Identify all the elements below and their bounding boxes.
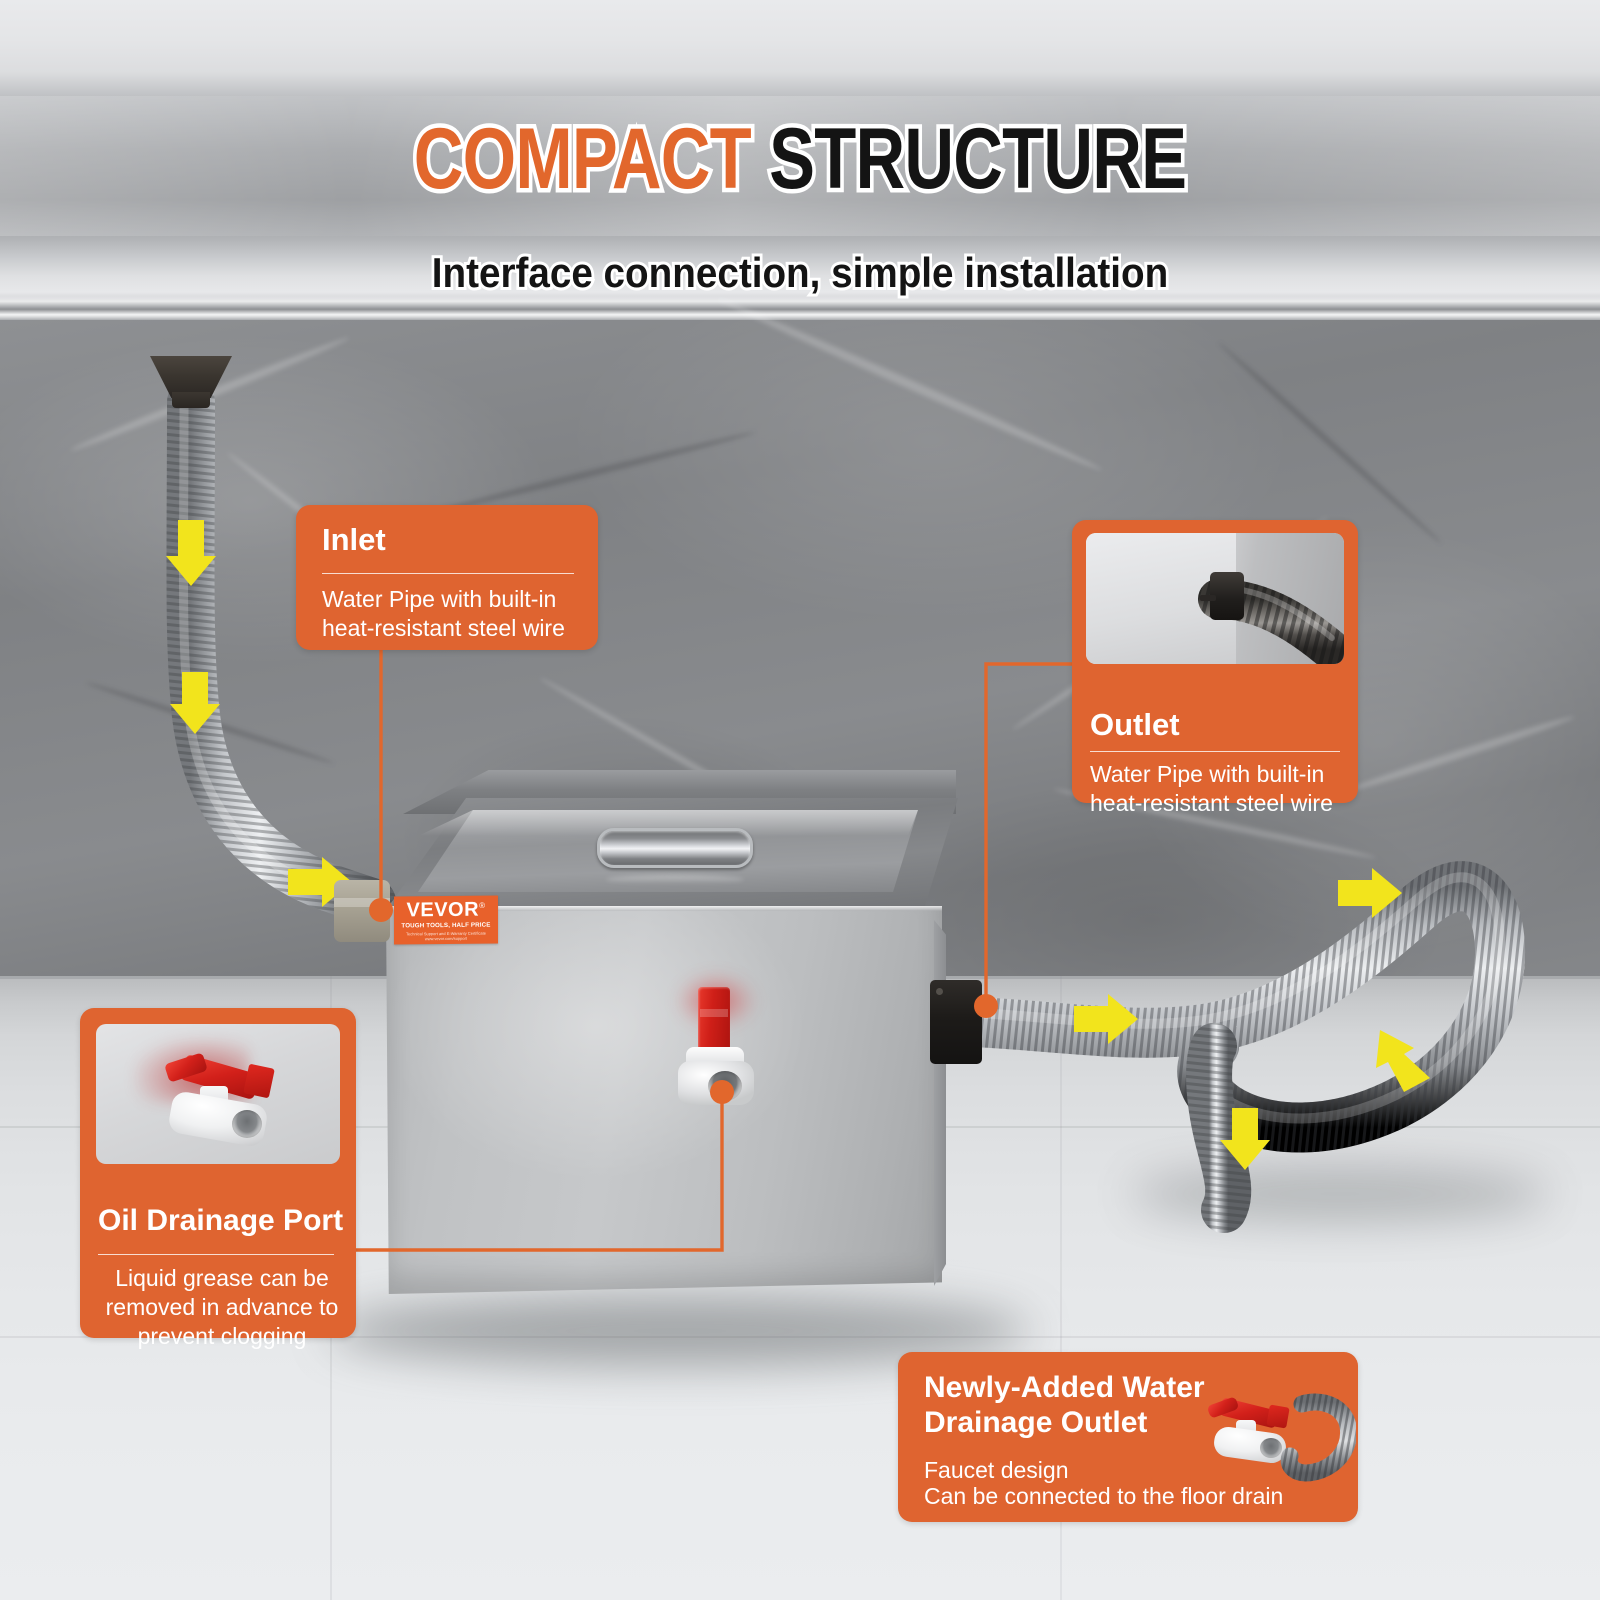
product-infographic-canvas: VEVOR® TOUGH TOOLS, HALF PRICE Technical…: [0, 0, 1600, 1600]
vevor-wordmark: VEVOR®: [394, 898, 498, 922]
callout-outlet-divider: [1090, 751, 1340, 752]
title-word-structure: STRUCTURE: [769, 111, 1186, 207]
callout-bottom-title: Newly-Added Water Drainage Outlet: [924, 1370, 1224, 1441]
title-word-compact: COMPACT: [414, 111, 751, 207]
photo-hose-tab: [1200, 595, 1216, 601]
sink-drain-neck: [172, 392, 210, 408]
tank-right-panel: [934, 920, 946, 1286]
callout-outlet-body: Water Pipe with built-in heat-resistant …: [1090, 760, 1348, 818]
outlet-inset-photo: [1086, 533, 1344, 664]
outlet-hose-fitting: [930, 980, 982, 1064]
ball-valve-illustration: [96, 1024, 340, 1164]
oil-drain-valve-on-tank: [668, 975, 786, 1105]
bottom-bar-product-art: [1198, 1372, 1356, 1512]
callout-outlet[interactable]: Outlet Water Pipe with built-in heat-res…: [1072, 520, 1358, 803]
bottom-coiled-hose-illustration: [1198, 1372, 1356, 1512]
vevor-brand-label: VEVOR® TOUGH TOOLS, HALF PRICE Technical…: [394, 895, 498, 944]
callout-inlet-body: Water Pipe with built-in heat-resistant …: [322, 585, 590, 643]
valve-red-handle: [698, 987, 730, 1053]
callout-oil-drainage-port[interactable]: Oil Drainage Port Liquid grease can be r…: [80, 1008, 356, 1338]
vevor-fineprint: Technical Support and E-Warranty Certifi…: [394, 930, 498, 941]
valve-outlet-mouth: [708, 1071, 742, 1101]
callout-outlet-title: Outlet: [1090, 708, 1180, 743]
callout-oil-divider: [98, 1254, 334, 1255]
vevor-tagline: TOUGH TOOLS, HALF PRICE: [394, 921, 498, 929]
callout-inlet[interactable]: Inlet Water Pipe with built-in heat-resi…: [296, 505, 598, 650]
oil-valve-inset-photo: [96, 1024, 340, 1164]
page-title: COMPACT STRUCTURE: [160, 116, 1440, 202]
callout-bottom-line-1: Faucet design: [924, 1456, 1068, 1484]
callout-oil-title: Oil Drainage Port: [98, 1204, 343, 1238]
callout-inlet-divider: [322, 573, 574, 574]
callout-inlet-title: Inlet: [322, 523, 386, 558]
callout-water-drainage-outlet[interactable]: Newly-Added Water Drainage Outlet Faucet…: [898, 1352, 1358, 1522]
callout-oil-body: Liquid grease can be removed in advance …: [98, 1264, 346, 1351]
page-subtitle: Interface connection, simple installatio…: [64, 252, 1536, 294]
inlet-hose-fitting: [334, 880, 390, 942]
lid-handle: [597, 828, 753, 868]
